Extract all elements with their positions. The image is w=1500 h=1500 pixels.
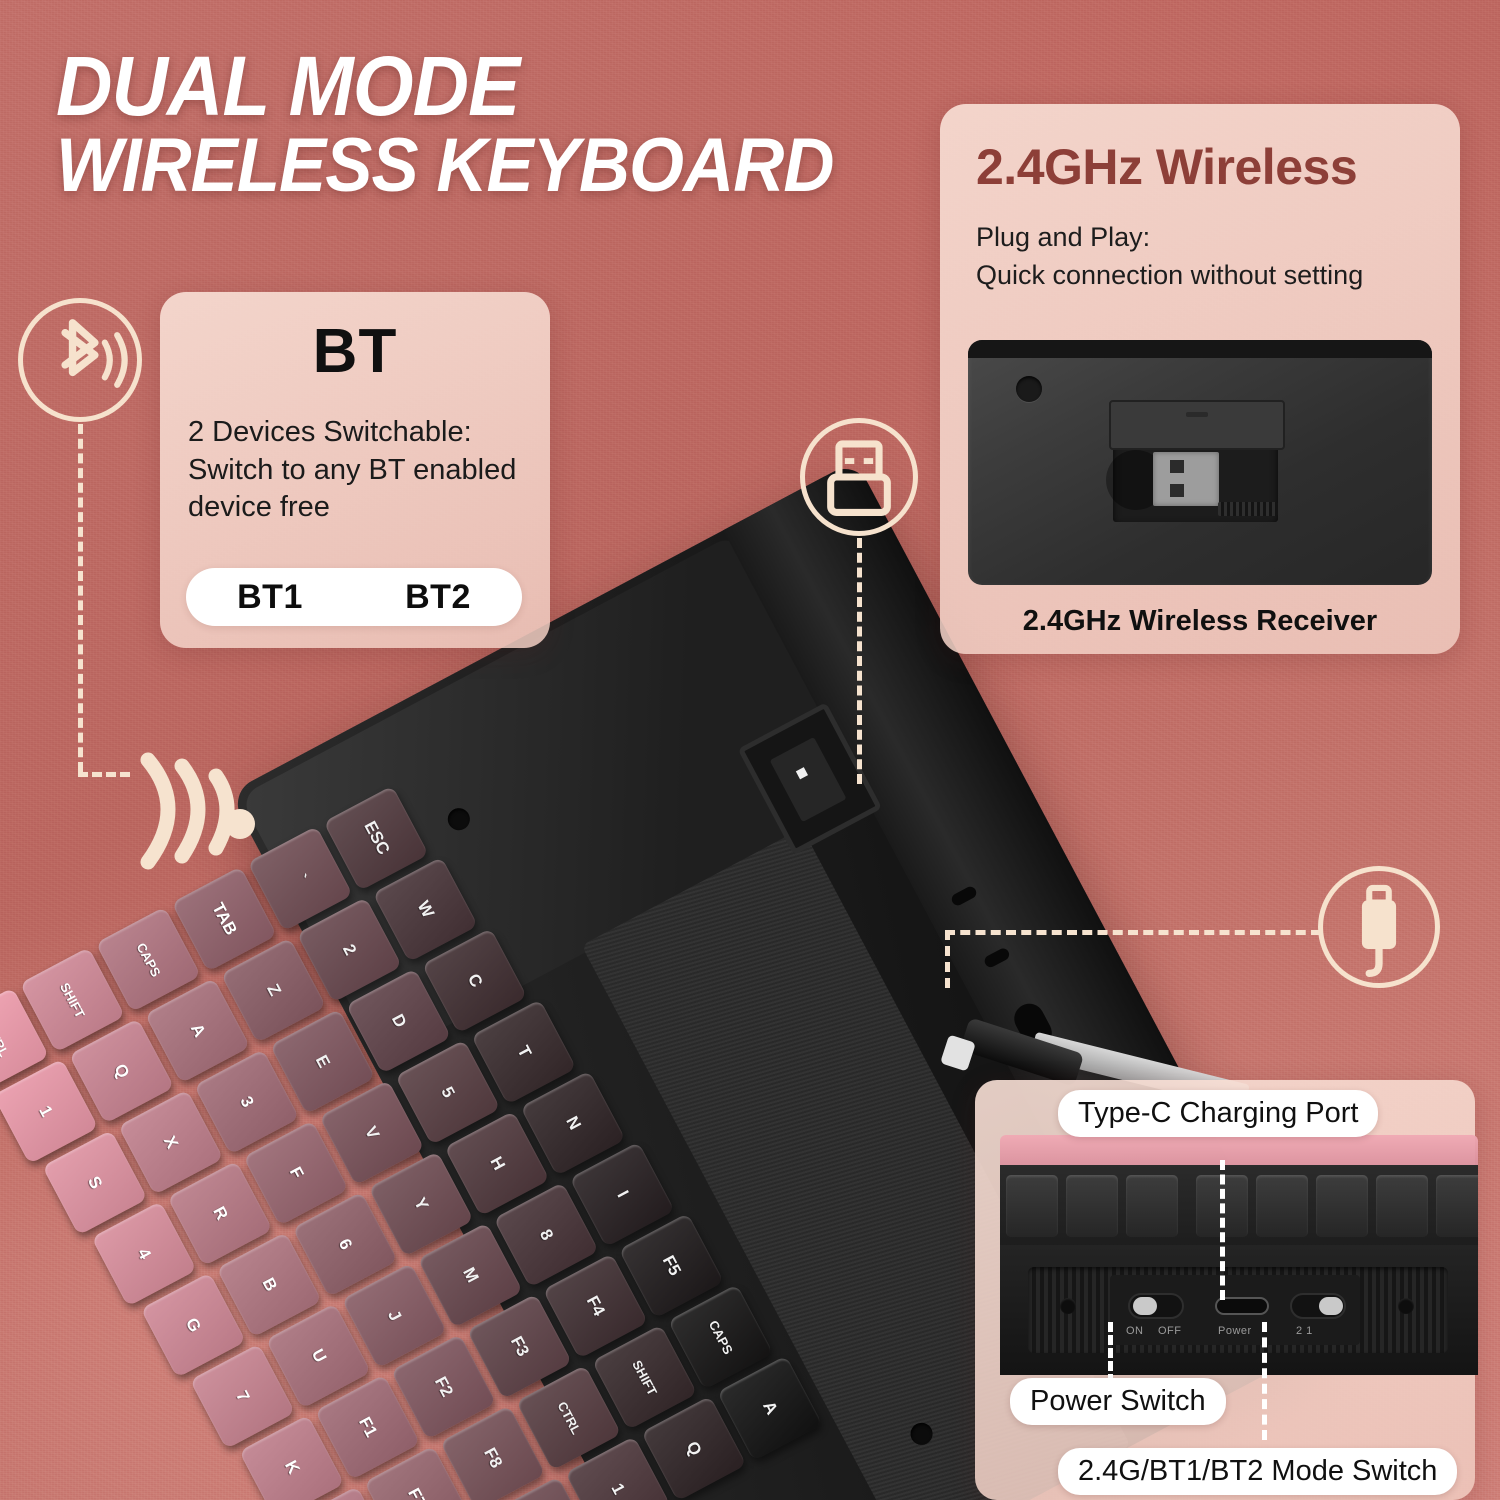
leader-line-usb-vertical [857,538,862,784]
leader-line-bluetooth-vertical [78,424,83,772]
wireless-feature-card: 2.4GHz Wireless Plug and Play: Quick con… [940,104,1460,654]
leader-line-mode-switch [1262,1322,1267,1440]
pink-keycap-row [1000,1135,1478,1169]
wireless-card-title: 2.4GHz Wireless [976,138,1357,196]
bluetooth-feature-card: BT 2 Devices Switchable: Switch to any B… [160,292,550,648]
wireless-subtitle-line-1: Plug and Play: [976,218,1436,256]
page-title: DUAL MODE WIRELESS KEYBOARD [56,48,936,201]
headline-line-2: WIRELESS KEYBOARD [56,131,874,201]
switch-on-marking: ON [1126,1325,1144,1337]
usb-receiver-dongle [1153,452,1219,506]
leader-line-typec-port [1220,1160,1225,1300]
plate-screw [1060,1298,1076,1314]
label-power-switch: Power Switch [1010,1378,1226,1425]
label-typec-charging-port: Type-C Charging Port [1058,1090,1378,1137]
bt1-option[interactable]: BT1 [237,578,303,617]
wireless-subtitle-line-2: Quick connection without setting [976,256,1436,294]
wireless-card-subtitle: Plug and Play: Quick connection without … [976,218,1436,295]
leader-line-typec-vertical [945,930,950,988]
port-marking: Power [1218,1325,1252,1337]
leader-line-power-switch [1108,1322,1113,1384]
mode-marking: 2 1 [1296,1325,1313,1337]
receiver-photo [968,340,1432,585]
label-mode-switch: 2.4G/BT1/BT2 Mode Switch [1058,1448,1457,1495]
receiver-photo-caption: 2.4GHz Wireless Receiver [940,605,1460,638]
leader-line-bluetooth-horizontal [78,772,130,777]
mode-switch[interactable] [1290,1293,1346,1319]
infographic-canvas: CTRLSHIFTCAPSTAB`ESC1QAZ2WSX3EDC4RFV5TGB… [0,0,1500,1500]
usb-dongle-icon [800,418,918,536]
usb-c-cable-icon [1318,866,1440,988]
power-switch[interactable] [1128,1293,1184,1319]
leader-line-typec-horizontal [945,930,1321,935]
bt2-option[interactable]: BT2 [405,578,471,617]
headline-line-1: DUAL MODE [56,48,874,125]
plate-screw [1398,1298,1414,1314]
bt-card-title: BT [160,316,550,387]
switch-off-marking: OFF [1158,1325,1182,1337]
bluetooth-icon [18,298,142,422]
bt-device-toggle[interactable]: BT1 BT2 [186,568,522,626]
wifi-waves-icon [128,752,278,872]
bt-card-body: 2 Devices Switchable: Switch to any BT e… [188,414,530,527]
